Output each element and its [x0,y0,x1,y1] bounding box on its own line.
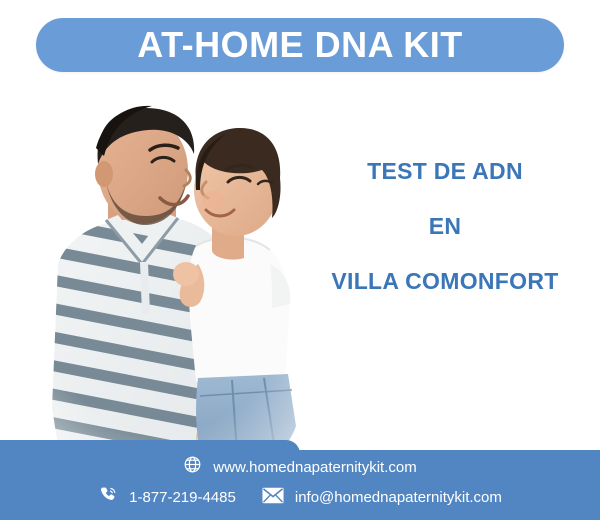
father-and-child-photo [0,78,330,478]
website-item[interactable]: www.homednapaternitykit.com [183,455,416,479]
footer-contact-row: 1-877-219-4485 info@homednapaternitykit.… [0,485,600,510]
globe-icon [183,455,202,479]
email-item[interactable]: info@homednapaternitykit.com [262,487,502,509]
website-label: www.homednapaternitykit.com [213,460,416,475]
phone-icon [98,485,118,510]
header-banner: AT-HOME DNA KIT [36,18,564,72]
headline-line-1: TEST DE ADN [300,160,590,183]
envelope-icon [262,487,284,509]
headline-line-3: VILLA COMONFORT [300,270,590,293]
poster-canvas: AT-HOME DNA KIT [0,0,600,520]
headline-line-2: EN [300,215,590,238]
phone-item[interactable]: 1-877-219-4485 [98,485,236,510]
headline-block: TEST DE ADN EN VILLA COMONFORT [300,160,590,293]
hero-photo [0,78,330,478]
page-title: AT-HOME DNA KIT [137,27,462,63]
email-label: info@homednapaternitykit.com [295,490,502,505]
phone-label: 1-877-219-4485 [129,490,236,505]
footer-website-row: www.homednapaternitykit.com [0,455,600,479]
